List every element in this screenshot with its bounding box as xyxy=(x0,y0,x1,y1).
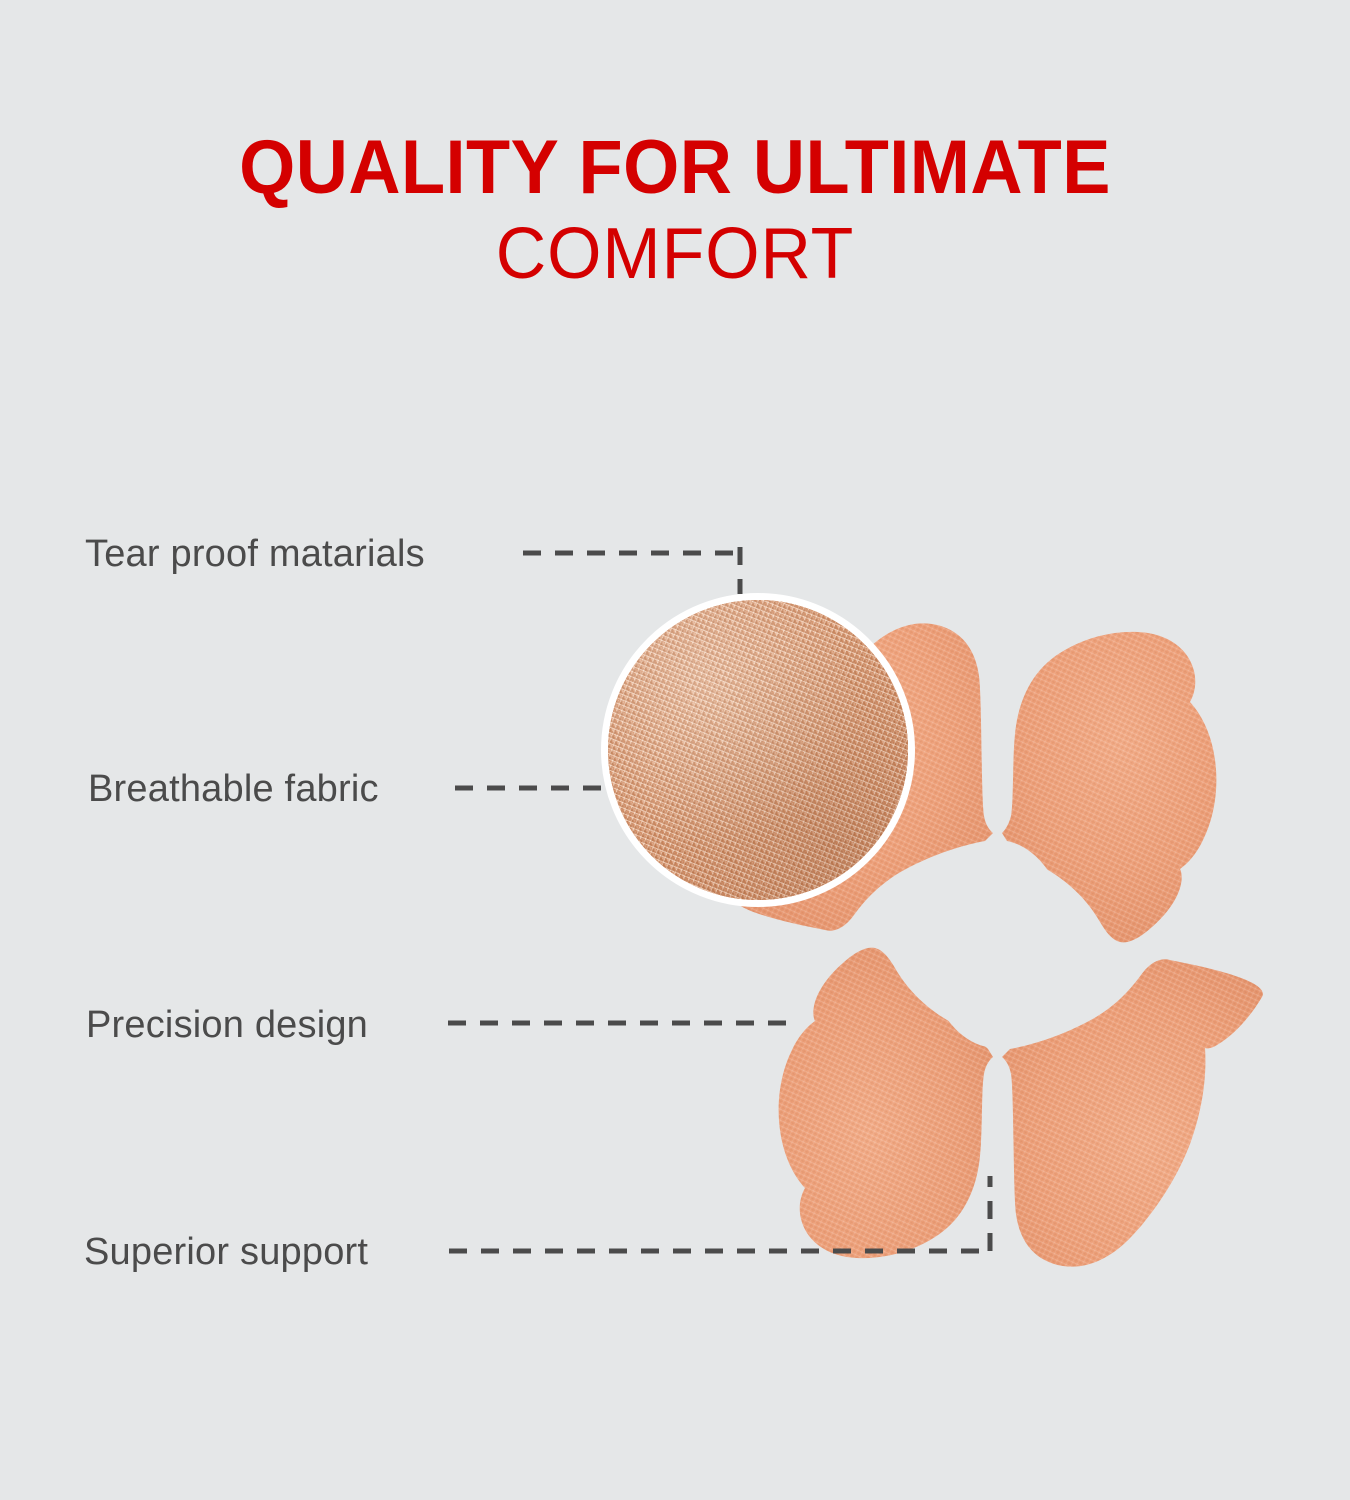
feature-label-superior-support: Superior support xyxy=(84,1231,368,1274)
feature-label-precision: Precision design xyxy=(86,1004,368,1047)
infographic-canvas: QUALITY FOR ULTIMATE COMFORT xyxy=(0,0,1350,1500)
feature-label-breathable: Breathable fabric xyxy=(88,768,379,811)
fabric-sheen-overlay xyxy=(608,600,908,900)
feature-label-tear-proof: Tear proof matarials xyxy=(85,533,425,576)
fabric-magnifier-circle xyxy=(601,593,915,907)
